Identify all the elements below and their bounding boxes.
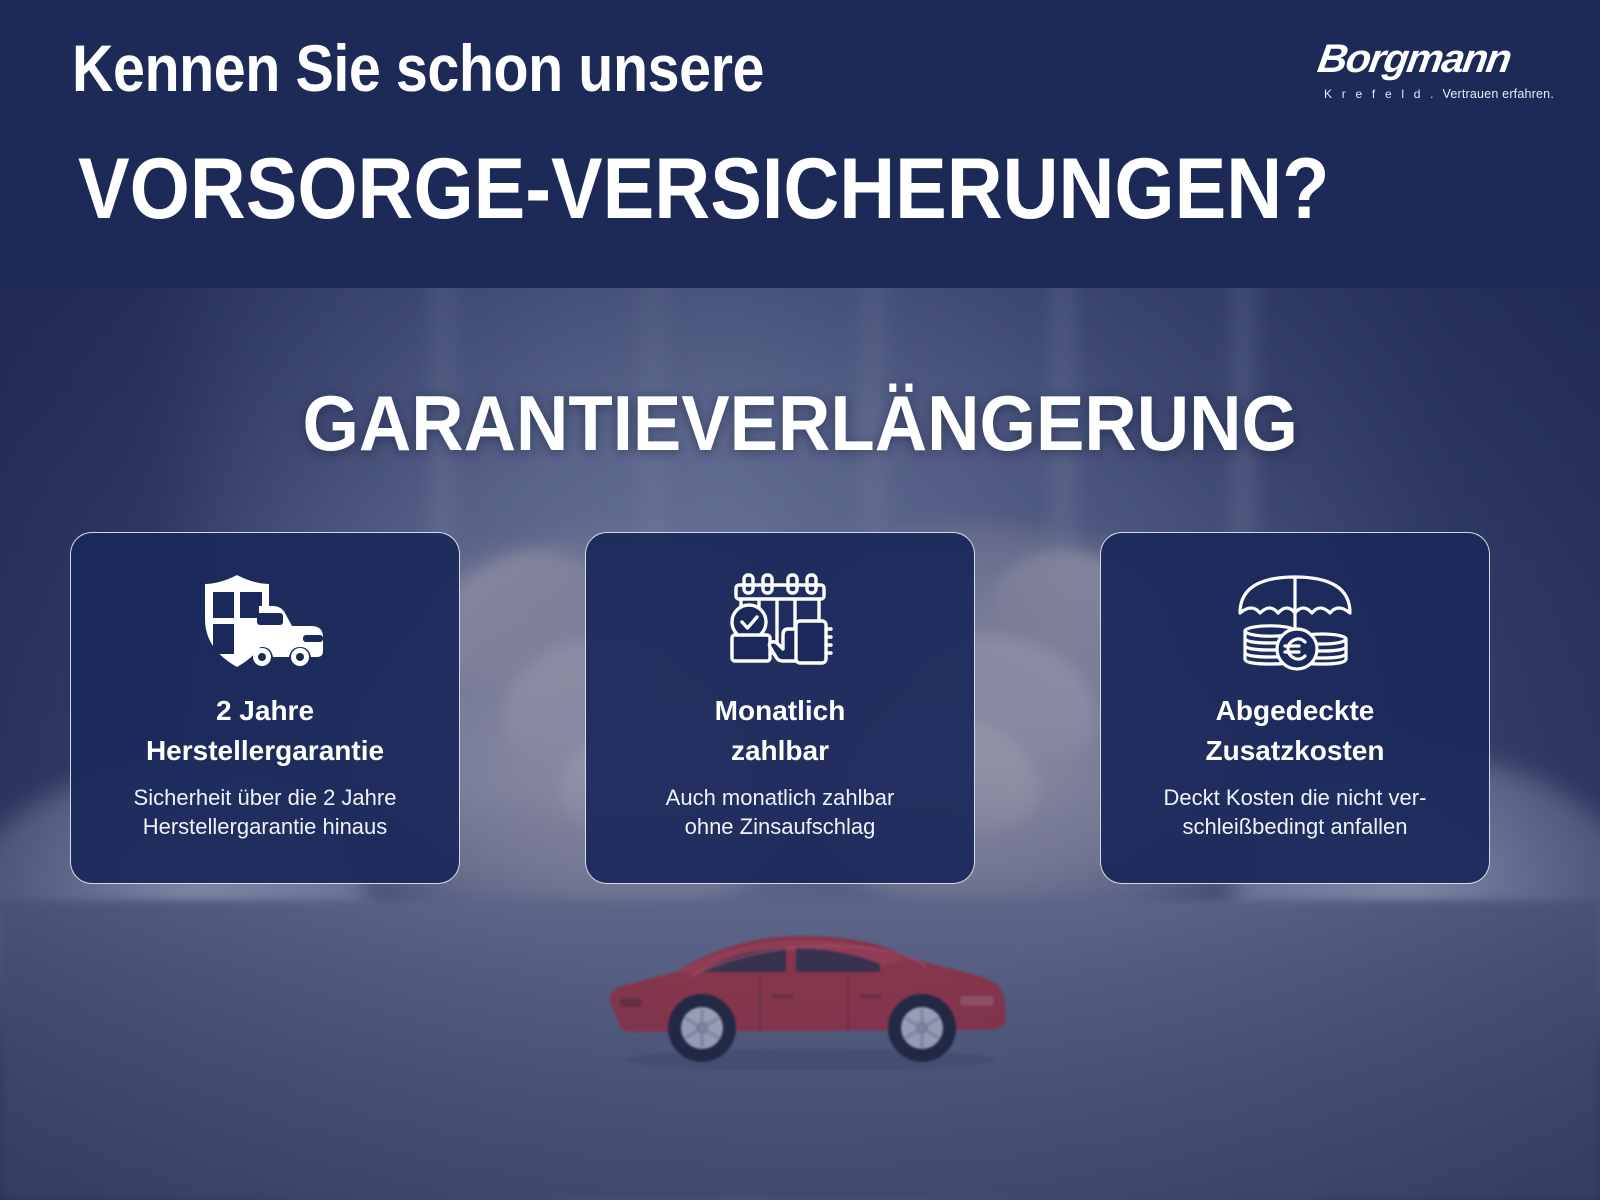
promo-banner: Kennen Sie schon unsere VORSORGE-VERSICH… (0, 0, 1600, 1200)
feature-card-monthly-payment[interactable]: Monatlich zahlbar Auch monatlich zahlbar… (585, 532, 975, 884)
feature-card-warranty[interactable]: 2 Jahre Herstellergarantie Sicherheit üb… (70, 532, 460, 884)
feature-card-title-line1: 2 Jahre (146, 691, 384, 731)
logo-subline: K r e f e l d . Vertrauen erfahren. (1324, 84, 1554, 104)
feature-card-title-line2: Herstellergarantie (146, 731, 384, 771)
feature-card-list: 2 Jahre Herstellergarantie Sicherheit üb… (70, 532, 1490, 884)
feature-card-desc: Deckt Kosten die nicht ver- schleißbedin… (1164, 783, 1427, 842)
logo-location: K r e f e l d . (1324, 87, 1437, 101)
feature-card-desc: Sicherheit über die 2 Jahre Herstellerga… (134, 783, 397, 842)
feature-card-title-line2: Zusatzkosten (1206, 731, 1385, 771)
logo-wordmark: Borgmann (1315, 36, 1557, 82)
feature-card-title-line1: Abgedeckte (1206, 691, 1385, 731)
page-title-text: GARANTIEVERLÄNGERUNG (302, 378, 1297, 469)
headline-product: VORSORGE-VERSICHERUNGEN? (78, 140, 1329, 239)
headline-question: Kennen Sie schon unsere (72, 30, 764, 106)
feature-card-title-line1: Monatlich (715, 691, 846, 731)
page-title: GARANTIEVERLÄNGERUNG (0, 378, 1600, 469)
shield-car-icon (199, 567, 331, 675)
header-band: Kennen Sie schon unsere VORSORGE-VERSICH… (0, 0, 1600, 288)
feature-card-title: 2 Jahre Herstellergarantie (146, 691, 384, 771)
feature-card-desc-line1: Sicherheit über die 2 Jahre (134, 783, 397, 812)
umbrella-euro-coins-icon (1234, 567, 1356, 675)
feature-card-desc-line2: schleißbedingt anfallen (1164, 812, 1427, 841)
feature-card-desc: Auch monatlich zahlbar ohne Zinsaufschla… (666, 783, 895, 842)
borgmann-logo[interactable]: Borgmann K r e f e l d . Vertrauen erfah… (1322, 36, 1552, 110)
feature-card-desc-line1: Deckt Kosten die nicht ver- (1164, 783, 1427, 812)
feature-card-title: Monatlich zahlbar (715, 691, 846, 771)
feature-card-desc-line1: Auch monatlich zahlbar (666, 783, 895, 812)
feature-card-desc-line2: Herstellergarantie hinaus (134, 812, 397, 841)
feature-card-extra-costs[interactable]: Abgedeckte Zusatzkosten Deckt Kosten die… (1100, 532, 1490, 884)
feature-card-title-line2: zahlbar (715, 731, 846, 771)
calendar-check-payment-icon (722, 567, 838, 675)
feature-card-desc-line2: ohne Zinsaufschlag (666, 812, 895, 841)
feature-card-title: Abgedeckte Zusatzkosten (1206, 691, 1385, 771)
logo-claim: Vertrauen erfahren. (1442, 87, 1554, 101)
